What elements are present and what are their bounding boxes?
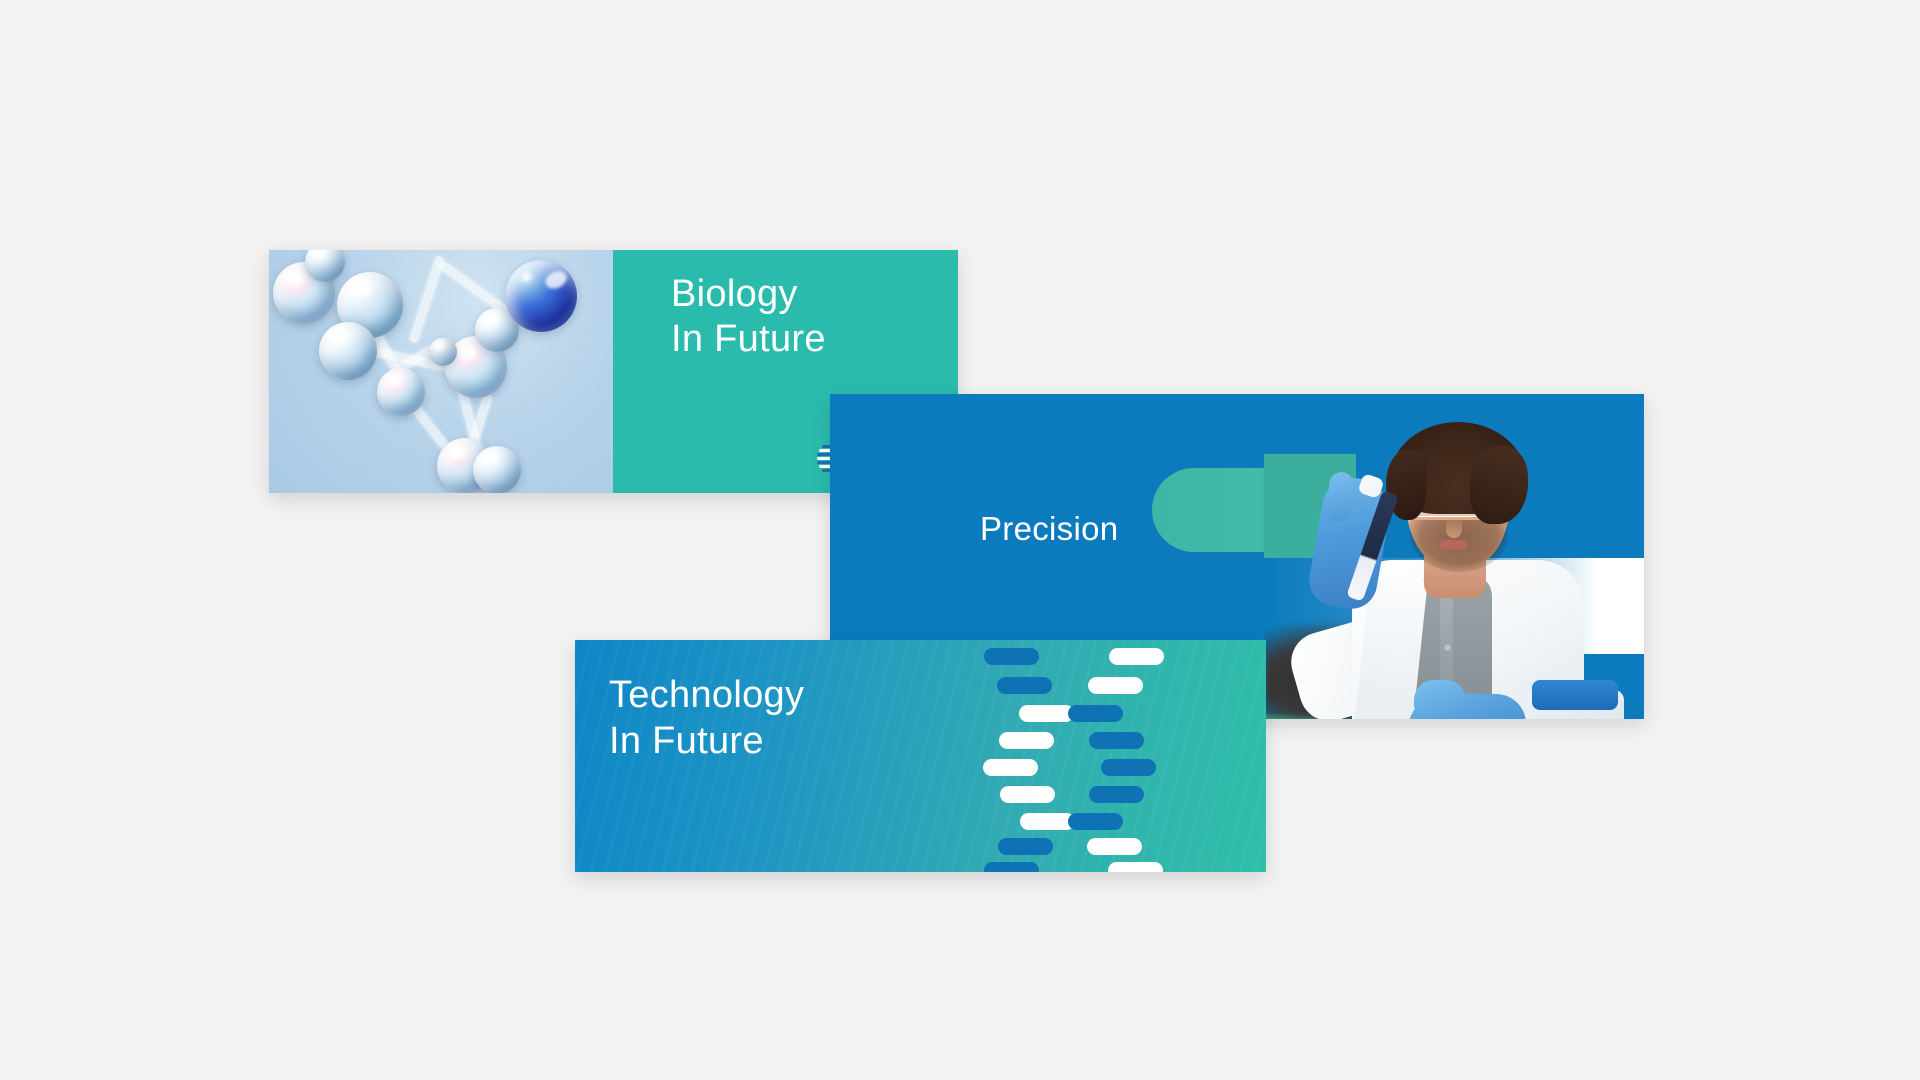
scientist-nose <box>1446 514 1462 538</box>
scientist-glove-lower-fingers <box>1414 680 1466 719</box>
dna-band <box>1000 786 1055 803</box>
molecule-atom <box>319 322 377 380</box>
scientist-photo <box>1264 394 1644 719</box>
dna-band <box>1068 813 1123 830</box>
scientist-shirt-button <box>1444 644 1451 651</box>
dna-band <box>1108 862 1163 872</box>
dna-gel-graphic <box>975 640 1175 872</box>
molecule-atom <box>505 260 577 332</box>
dna-band <box>983 759 1038 776</box>
dna-band <box>1019 705 1074 722</box>
dna-band <box>1068 705 1123 722</box>
biology-title: Biology In Future <box>671 272 826 362</box>
dna-band <box>1089 786 1144 803</box>
dna-band <box>997 677 1052 694</box>
scientist-mouth <box>1440 540 1468 549</box>
molecule-atom <box>377 368 425 416</box>
technology-title: Technology In Future <box>609 673 804 764</box>
dna-band <box>1109 648 1164 665</box>
dna-band <box>1020 813 1075 830</box>
molecule-photo <box>269 250 613 493</box>
dna-band <box>1089 732 1144 749</box>
dna-band <box>984 862 1039 872</box>
molecule-atom <box>305 250 345 282</box>
dna-band <box>1087 838 1142 855</box>
dna-band <box>984 648 1039 665</box>
reagent-bottle-cap <box>1532 680 1618 710</box>
dna-band <box>1088 677 1143 694</box>
dna-band <box>998 838 1053 855</box>
banner-collage-stage: Biology In Future BIOASSIST 佰奥斯特 Precisi… <box>0 0 1920 1080</box>
dna-band <box>1101 759 1156 776</box>
precision-title: Precision <box>980 510 1118 548</box>
dna-band <box>999 732 1054 749</box>
molecule-atom <box>429 338 457 366</box>
molecule-atom <box>473 446 521 493</box>
technology-banner-card[interactable]: Technology In Future <box>575 640 1266 872</box>
